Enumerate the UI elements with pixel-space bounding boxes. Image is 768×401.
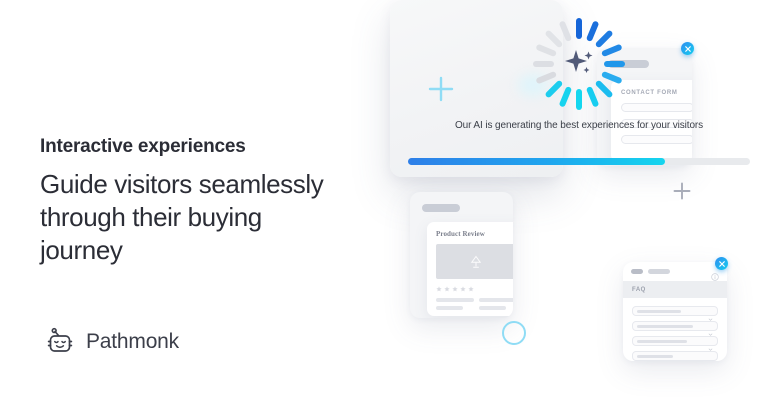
contact-field[interactable]: [621, 103, 692, 112]
faq-question-placeholder: [637, 325, 693, 328]
ai-status-message: Our AI is generating the best experience…: [404, 119, 754, 133]
header-pill: [648, 269, 670, 274]
faq-accordion-list: [632, 306, 718, 361]
hero-text-column: Interactive experiences Guide visitors s…: [40, 0, 370, 401]
chevron-down-icon[interactable]: [708, 339, 713, 344]
faq-title: FAQ: [632, 287, 646, 293]
progress-bar-track: [408, 158, 750, 165]
illustration-area: CONTACT FORM Product Review: [390, 0, 768, 401]
page-title: Guide visitors seamlessly through their …: [40, 168, 340, 266]
robot-head-icon: [43, 325, 77, 359]
loading-spinner-icon: [531, 16, 627, 112]
faq-question-placeholder: [637, 310, 681, 313]
star-icon: [444, 286, 450, 292]
faq-section-band: FAQ: [623, 281, 727, 298]
product-image-placeholder: [436, 244, 513, 279]
ai-generating-card: Our AI is generating the best experience…: [390, 0, 563, 177]
faq-question-placeholder: [637, 355, 673, 358]
brand-logo: Pathmonk: [43, 325, 179, 359]
progress-bar-fill: [408, 158, 665, 165]
product-review-card[interactable]: Product Review: [410, 192, 513, 318]
sparkle-star-icon: [565, 50, 593, 73]
plus-icon: [428, 76, 454, 102]
close-icon[interactable]: [715, 257, 728, 270]
star-icon: [436, 286, 442, 292]
header-pill: [631, 269, 643, 274]
contact-form-title: CONTACT FORM: [621, 90, 692, 96]
star-icon: [452, 286, 458, 292]
chevron-down-icon[interactable]: [708, 324, 713, 329]
product-review-body: Product Review: [427, 222, 513, 316]
eyebrow-label: Interactive experiences: [40, 136, 246, 158]
star-icon: [460, 286, 466, 292]
circle-outline-icon: [502, 321, 526, 345]
close-icon[interactable]: [681, 42, 694, 55]
chevron-down-icon[interactable]: [708, 309, 713, 314]
faq-accordion-row[interactable]: [632, 306, 718, 316]
faq-accordion-row[interactable]: [632, 336, 718, 346]
star-icon: [468, 286, 474, 292]
plus-icon: [673, 182, 691, 200]
faq-card-header: [623, 262, 727, 281]
review-text-lines: [436, 298, 513, 314]
chevron-down-icon[interactable]: [708, 354, 713, 359]
lamp-icon: [468, 254, 484, 270]
product-review-title: Product Review: [436, 230, 513, 238]
faq-card[interactable]: FAQ: [623, 262, 727, 361]
slide-canvas: Interactive experiences Guide visitors s…: [0, 0, 768, 401]
rating-stars: [436, 286, 513, 292]
faq-accordion-row[interactable]: [632, 321, 718, 331]
faq-accordion-row[interactable]: [632, 351, 718, 361]
contact-field[interactable]: [621, 135, 692, 144]
faq-question-placeholder: [637, 340, 687, 343]
brand-name: Pathmonk: [86, 330, 179, 354]
card-header-pill: [422, 204, 460, 212]
